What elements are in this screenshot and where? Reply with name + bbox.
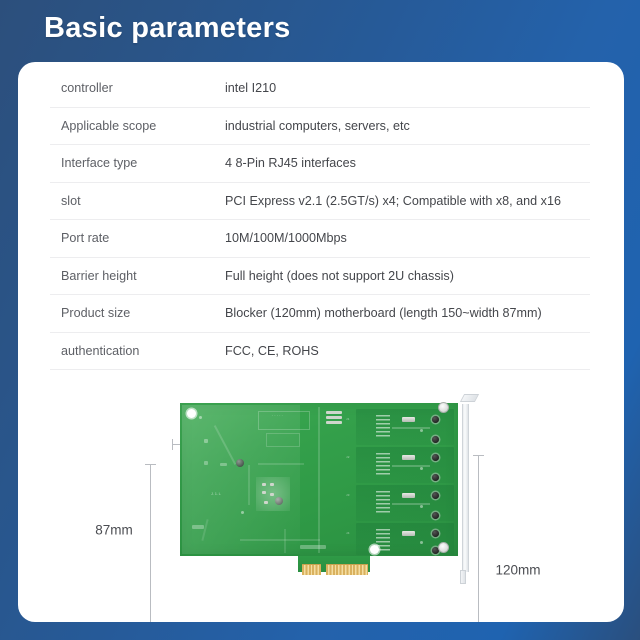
magnetics-component [402,417,415,422]
product-figure: 150mm 87mm 120mm - - - - - [18,362,624,622]
silk-text: J.1.L [211,491,221,496]
dimension-line-board-height [150,464,151,622]
solder-pad [326,421,342,424]
pcb-card-image: - - - - - J.1.L [180,403,458,572]
via-dot [420,505,423,508]
pcb-trace [201,519,208,541]
solder-pad [220,463,227,466]
solder-pad [192,525,204,529]
table-row: Applicable scope industrial computers, s… [50,108,590,146]
dimension-label-board-height: 87mm [95,523,133,538]
silk-text: J3 [346,493,350,497]
solder-pad [326,411,342,414]
table-row: slot PCI Express v2.1 (2.5GT/s) x4; Comp… [50,183,590,221]
spec-label: Barrier height [50,269,225,283]
port-pads [376,491,390,515]
magnetics-component [402,493,415,498]
pcb-trace [258,463,304,465]
via-dot [241,511,244,514]
solder-blob [236,459,244,467]
pcb-trace [240,539,320,541]
spec-label: authentication [50,344,225,358]
spec-value: 10M/100M/1000Mbps [225,231,590,245]
table-row: Barrier height Full height (does not sup… [50,258,590,296]
solder-pad [204,461,208,465]
dimension-label-bracket-height: 120mm [495,563,540,578]
table-row: Interface type 4 8-Pin RJ45 interfaces [50,145,590,183]
table-row: controller intel I210 [50,70,590,108]
table-row: Product size Blocker (120mm) motherboard… [50,295,590,333]
spec-label: Product size [50,306,225,320]
rj45-hole [432,416,439,423]
board-profile-cut-right [370,563,458,572]
rj45-hole [432,474,439,481]
page-title: Basic parameters [44,12,291,45]
spec-value: 4 8-Pin RJ45 interfaces [225,156,590,170]
rj45-hole [432,492,439,499]
pcb-board: - - - - - J.1.L [180,403,458,556]
table-row: Port rate 10M/100M/1000Mbps [50,220,590,258]
dimension-tick-top [145,464,156,465]
spec-value: Blocker (120mm) motherboard (length 150~… [225,306,590,320]
silk-outline [266,433,300,447]
silk-text: J4 [346,531,350,535]
magnetics-component [402,455,415,460]
spec-label: slot [50,194,225,208]
pcb-trace [248,465,250,505]
via-dot [420,429,423,432]
solder-pad [262,491,266,494]
spec-value: Full height (does not support 2U chassis… [225,269,590,283]
content-panel: controller intel I210 Applicable scope i… [18,62,624,622]
mount-hole-bottom [370,545,379,554]
gold-finger-x1 [302,564,321,575]
pcb-trace [214,425,236,465]
dimension-tick-left [172,439,173,450]
silk-outline [258,411,310,430]
via-dot [199,416,202,419]
spec-value: PCI Express v2.1 (2.5GT/s) x4; Compatibl… [225,194,590,208]
product-spec-page: Basic parameters controller intel I210 A… [0,0,640,640]
silk-text: J1 [346,417,350,421]
silk-text: - - - - - [272,413,283,417]
spec-table: controller intel I210 Applicable scope i… [50,70,590,370]
pcb-trace [392,465,430,467]
pcb-trace [392,503,430,505]
spec-label: controller [50,81,225,95]
mount-hole-top-left [187,409,196,418]
rj45-hole [432,512,439,519]
pci-bracket [458,390,474,586]
spec-label: Applicable scope [50,119,225,133]
dimension-line-bracket-height [478,455,479,622]
screw-pad-bottom [438,542,449,553]
spec-value: FCC, CE, ROHS [225,344,590,358]
port-pads [376,453,390,477]
via-dot [420,541,423,544]
bracket-flange-bottom [460,570,466,584]
rj45-hole [432,530,439,537]
board-profile-cut [180,556,298,572]
solder-pad [300,545,326,549]
pcb-trace [392,427,430,429]
solder-pad [262,483,266,486]
port-pads [376,415,390,439]
solder-pad [270,493,274,496]
screw-pad-top [438,402,449,413]
pcb-trace [318,407,320,553]
solder-pad [264,501,268,504]
spec-value: industrial computers, servers, etc [225,119,590,133]
rj45-hole [432,436,439,443]
spec-label: Port rate [50,231,225,245]
pcb-trace [284,529,286,553]
solder-pad [326,416,342,419]
gold-finger-x4 [326,564,368,575]
rj45-hole [432,454,439,461]
dimension-tick-bracket-top [473,455,484,456]
silk-text: J2 [346,455,350,459]
magnetics-component [402,531,415,536]
spec-value: intel I210 [225,81,590,95]
bracket-plate [462,404,469,572]
solder-pad [270,483,274,486]
solder-pad [204,439,208,443]
spec-label: Interface type [50,156,225,170]
bracket-flange-top [460,394,479,402]
via-dot [420,467,423,470]
